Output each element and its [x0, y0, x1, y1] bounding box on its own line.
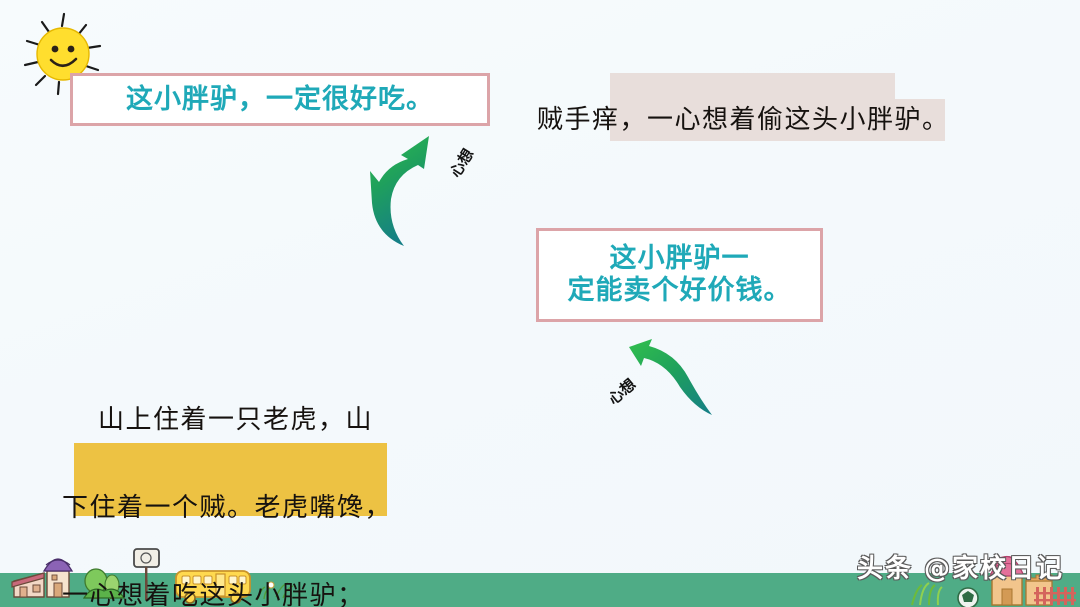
watermark-text: 头条 @家校日记 — [857, 548, 1064, 585]
arrow-1-label: 心想 — [448, 147, 477, 181]
house-icon — [12, 573, 44, 597]
callout-box-tiger-thought: 这小胖驴，一定很好吃。 — [70, 73, 490, 126]
left-passage-line-3: 一心想着吃这头小胖驴； — [62, 575, 482, 607]
right-passage-text: 贼手痒，一心想着偷这头小胖驴。 — [537, 99, 1067, 141]
grass-icon — [912, 583, 942, 605]
soccer-ball-icon — [958, 588, 978, 607]
slide-canvas: 这小胖驴，一定很好吃。 贼手痒，一心想着偷这头小胖驴。 心想 这小胖驴一 定能卖… — [0, 0, 1080, 607]
left-passage-line-2: 下住着一个贼。老虎嘴馋， — [62, 487, 482, 533]
callout-2-text: 这小胖驴一 定能卖个好价钱。 — [568, 243, 792, 307]
callout-1-text: 这小胖驴，一定很好吃。 — [126, 84, 434, 116]
callout-box-thief-thought: 这小胖驴一 定能卖个好价钱。 — [536, 228, 823, 322]
arrow-1-label-text: 心想 — [448, 147, 477, 181]
curved-arrow-up-icon — [366, 133, 442, 249]
left-passage-line-1: 山上住着一只老虎，山 — [62, 399, 482, 445]
